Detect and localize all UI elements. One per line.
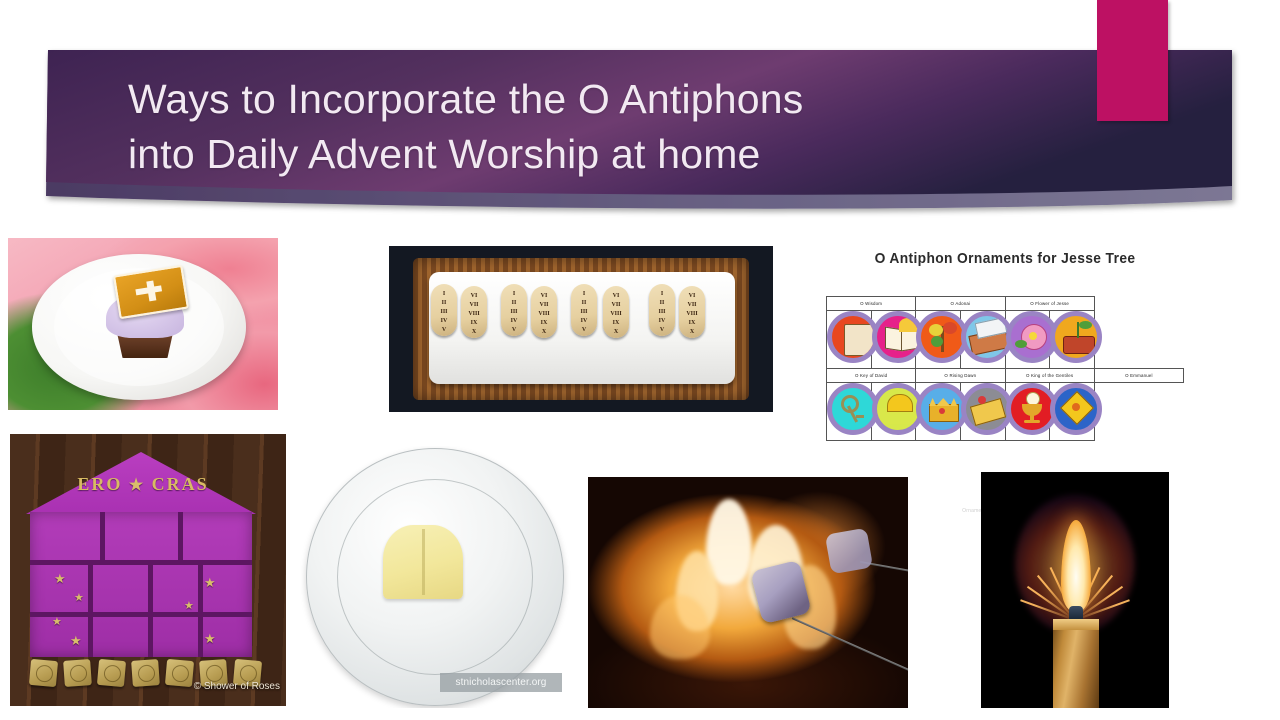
cookie-numeral: X — [461, 328, 487, 336]
cookie-numeral: VII — [679, 301, 705, 309]
antiphon-header: O Key of David — [827, 369, 916, 383]
cookie-numeral: II — [431, 299, 457, 307]
cookie-numeral: VI — [679, 292, 705, 300]
ornament-cell — [827, 383, 872, 441]
chart-title: O Antiphon Ornaments for Jesse Tree — [833, 250, 1177, 267]
cookie-numeral: IX — [531, 319, 557, 327]
cookie-numeral: III — [501, 308, 527, 316]
ornament-cell — [960, 383, 1005, 441]
cookie-numeral: V — [501, 326, 527, 334]
commandment-cookie: IIIIIIIVV — [649, 284, 675, 336]
marshmallow-roasting-photo[interactable] — [588, 477, 908, 708]
house-shadowbox-shape: ERO ★ CRAS ★ ★ ★ ★ ★ ★ ★ — [26, 452, 256, 657]
image-watermark: stnicholascenter.org — [440, 673, 562, 692]
cookie-numeral: VIII — [531, 310, 557, 318]
gold-star-icon: ★ — [74, 592, 84, 605]
commandment-cookie: IIIIIIIVV — [571, 284, 597, 336]
table-row — [827, 311, 1184, 369]
cookie-numeral: I — [431, 290, 457, 298]
ornament-cell — [1050, 311, 1095, 369]
cookie-numeral: VII — [531, 301, 557, 309]
antiphon-header: O Flower of Jesse — [1005, 297, 1094, 311]
antiphon-header: O Wisdom — [827, 297, 916, 311]
cookie-numeral: VIII — [461, 310, 487, 318]
image-watermark: © Shower of Roses — [194, 681, 280, 692]
ornament-cell — [960, 311, 1005, 369]
ero-cras-label: ERO ★ CRAS — [64, 474, 222, 504]
ornament-cell — [827, 311, 872, 369]
advent-block — [131, 659, 160, 687]
cookie-numeral: IX — [603, 319, 629, 327]
ero-text: ERO — [77, 474, 122, 494]
advent-block — [97, 659, 126, 687]
slide-canvas: Ways to Incorporate the O Antiphons into… — [0, 0, 1280, 720]
gold-star-icon: ★ — [184, 600, 194, 613]
cookie-numeral: VI — [531, 292, 557, 300]
cookie-numeral: I — [649, 290, 675, 298]
ero-cras-shadowbox-photo[interactable]: ERO ★ CRAS ★ ★ ★ ★ ★ ★ ★ © Shower of Ros… — [10, 434, 286, 706]
cookie-numeral: II — [649, 299, 675, 307]
advent-cupcake-photo[interactable] — [8, 238, 278, 410]
cookie-numeral: IV — [431, 317, 457, 325]
cookie-numeral: I — [571, 290, 597, 298]
cookie-numeral: X — [531, 328, 557, 336]
commandment-cookie: VIVIIVIIIIXX — [531, 286, 557, 338]
ornament-cell — [871, 383, 916, 441]
gold-star-icon: ★ — [52, 616, 62, 629]
ornaments-table: O WisdomO AdonaiO Flower of JesseO Key o… — [826, 296, 1184, 441]
cookie-numeral: VIII — [603, 310, 629, 318]
gold-star-icon: ★ — [204, 632, 216, 645]
cookie-numeral: VI — [461, 292, 487, 300]
ornament-stump-shoot-icon — [1050, 311, 1102, 363]
table-header-row: O Key of DavidO Rising DawnO King of the… — [827, 369, 1184, 383]
candle-body-shape — [1053, 619, 1099, 708]
ornament-cell — [1005, 383, 1050, 441]
cookie-numeral: IX — [461, 319, 487, 327]
cookie-numeral: III — [571, 308, 597, 316]
antiphon-header: O Adonai — [916, 297, 1005, 311]
advent-block — [63, 659, 92, 687]
butter-tablets-plate-photo[interactable]: stnicholascenter.org — [300, 446, 586, 708]
title-banner: Ways to Incorporate the O Antiphons into… — [0, 0, 1280, 240]
ornament-cell — [1050, 383, 1095, 441]
page-title: Ways to Incorporate the O Antiphons into… — [128, 72, 1028, 182]
cookie-numeral: VII — [603, 301, 629, 309]
cookie-numeral: IX — [679, 319, 705, 327]
commandment-cookie: VIVIIVIIIIXX — [603, 286, 629, 338]
cookie-numeral: IV — [649, 317, 675, 325]
wicker-basket-shape: IIIIIIIVVVIVIIVIIIIXXIIIIIIIVVVIVIIVIIII… — [413, 258, 749, 400]
ornament-cell — [1005, 311, 1050, 369]
cookie-numeral: VII — [461, 301, 487, 309]
cookie-numeral: VIII — [679, 310, 705, 318]
table-header-row: O WisdomO AdonaiO Flower of Jesse — [827, 297, 1184, 311]
cookie-numeral: X — [679, 328, 705, 336]
accent-rectangle — [1097, 0, 1168, 121]
cookie-numeral: IV — [501, 317, 527, 325]
cookie-numeral: X — [603, 328, 629, 336]
cookie-numeral: III — [649, 308, 675, 316]
commandment-cookie: VIVIIVIIIIXX — [679, 286, 705, 338]
cookie-numeral: VI — [603, 292, 629, 300]
ornament-star-diamond-icon — [1050, 383, 1102, 435]
cookie-numeral: IV — [571, 317, 597, 325]
antiphon-header: O Rising Dawn — [916, 369, 1005, 383]
butter-tablets-shape — [383, 525, 463, 599]
ornament-cell — [871, 311, 916, 369]
gold-star-icon: ★ — [54, 572, 66, 585]
gold-star-icon: ★ — [70, 634, 82, 647]
candle-flame-photo[interactable] — [981, 472, 1169, 708]
table-row — [827, 383, 1184, 441]
plate-shape — [306, 448, 564, 706]
antiphon-header: O King of the Gentiles — [1005, 369, 1094, 383]
advent-block — [29, 659, 58, 687]
ornament-cell — [916, 311, 961, 369]
gold-star-icon: ★ — [129, 477, 145, 494]
marshmallow-shape — [825, 528, 873, 575]
ten-commandments-cookies-photo[interactable]: IIIIIIIVVVIVIIVIIIIXXIIIIIIIVVVIVIIVIIII… — [389, 246, 773, 412]
cookie-numeral: V — [649, 326, 675, 334]
commandment-cookie: VIVIIVIIIIXX — [461, 286, 487, 338]
commandment-cookie: IIIIIIIVV — [431, 284, 457, 336]
cookie-numeral: II — [501, 299, 527, 307]
cookie-numeral: V — [431, 326, 457, 334]
advent-block — [165, 659, 194, 687]
cookie-numeral: III — [431, 308, 457, 316]
cookie-numeral: I — [501, 290, 527, 298]
cookie-numeral: V — [571, 326, 597, 334]
commandment-cookie: IIIIIIIVV — [501, 284, 527, 336]
gold-star-icon: ★ — [204, 576, 216, 589]
cras-text: CRAS — [152, 474, 209, 494]
antiphon-header: O Emmanuel — [1094, 369, 1183, 383]
cookie-numeral: II — [571, 299, 597, 307]
cookie-row: IIIIIIIVVVIVIIVIIIIXXIIIIIIIVVVIVIIVIIII… — [431, 284, 703, 344]
ornament-cell — [916, 383, 961, 441]
